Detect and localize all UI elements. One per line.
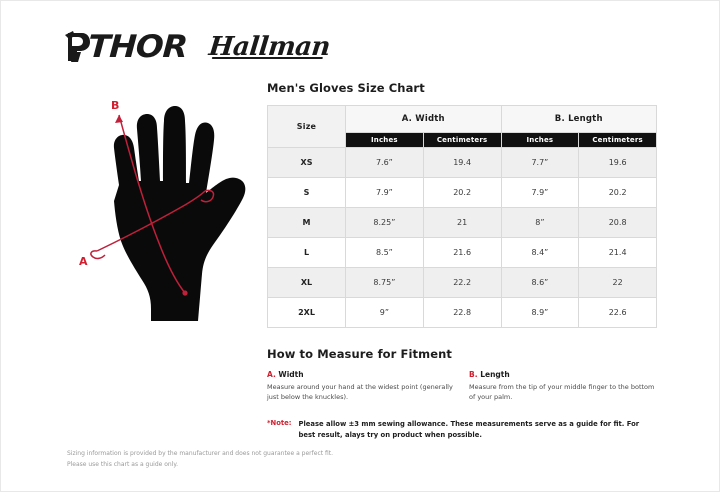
how-to-measure-length: B. Length Measure from the tip of your m… [469, 370, 657, 402]
diagram-label-a: A [79, 255, 88, 268]
table-row: XL 8.75” 22.2 8.6” 22 [268, 268, 657, 298]
cell-width-cm: 19.4 [423, 148, 501, 178]
chart-title: Men's Gloves Size Chart [267, 81, 657, 95]
hand-measurement-diagram: B A [67, 93, 267, 333]
table-row: L 8.5” 21.6 8.4” 21.4 [268, 238, 657, 268]
cell-length-in: 8.4” [501, 238, 579, 268]
length-description: Measure from the tip of your middle fing… [469, 382, 657, 402]
note-text: Please allow ±3 mm sewing allowance. The… [299, 419, 651, 441]
table-row: M 8.25” 21 8” 20.8 [268, 208, 657, 238]
cell-length-in: 8” [501, 208, 579, 238]
table-body: XS 7.6” 19.4 7.7” 19.6 S 7.9” 20.2 7.9” … [268, 148, 657, 328]
measure-endpoint-b-icon [182, 290, 187, 295]
cell-size: 2XL [268, 298, 346, 328]
cell-size: M [268, 208, 346, 238]
length-heading: Length [480, 370, 510, 379]
width-description: Measure around your hand at the widest p… [267, 382, 455, 402]
diagram-label-b: B [111, 99, 119, 112]
width-marker: A. [267, 370, 276, 379]
cell-width-in: 8.25” [346, 208, 424, 238]
table-header-row-groups: Size A. Width B. Length [268, 106, 657, 133]
cell-length-cm: 19.6 [579, 148, 657, 178]
cell-width-in: 8.75” [346, 268, 424, 298]
how-to-measure-section: How to Measure for Fitment A. Width Meas… [267, 347, 657, 402]
cell-length-in: 8.6” [501, 268, 579, 298]
cell-length-in: 8.9” [501, 298, 579, 328]
column-header-length-inches: Inches [501, 133, 579, 148]
table-row: 2XL 9” 22.8 8.9” 22.6 [268, 298, 657, 328]
footer-line-2: Please use this chart as a guide only. [67, 460, 333, 471]
size-chart-page: THOR Hallman B A Me [0, 0, 720, 492]
cell-size: XS [268, 148, 346, 178]
cell-length-cm: 21.4 [579, 238, 657, 268]
cell-length-cm: 22.6 [579, 298, 657, 328]
how-to-measure-width: A. Width Measure around your hand at the… [267, 370, 455, 402]
cell-size: S [268, 178, 346, 208]
thor-wordmark: THOR [87, 32, 188, 63]
measure-arrowhead-b-icon [115, 115, 123, 123]
width-heading: Width [278, 370, 303, 379]
table-row: XS 7.6” 19.4 7.7” 19.6 [268, 148, 657, 178]
hallman-wordmark: Hallman [208, 34, 332, 60]
column-header-width-centimeters: Centimeters [423, 133, 501, 148]
column-header-size: Size [268, 106, 346, 148]
table-header: Size A. Width B. Length Inches Centimete… [268, 106, 657, 148]
column-group-header-length: B. Length [501, 106, 657, 133]
cell-length-cm: 20.2 [579, 178, 657, 208]
column-header-width-inches: Inches [346, 133, 424, 148]
cell-length-cm: 22 [579, 268, 657, 298]
note-label: *Note: [267, 419, 292, 427]
footer-disclaimer: Sizing information is provided by the ma… [67, 449, 333, 470]
thor-logo: THOR [65, 31, 181, 63]
cell-width-cm: 22.2 [423, 268, 501, 298]
column-group-header-width: A. Width [346, 106, 502, 133]
cell-width-cm: 20.2 [423, 178, 501, 208]
cell-length-cm: 20.8 [579, 208, 657, 238]
cell-width-in: 9” [346, 298, 424, 328]
cell-width-in: 7.9” [346, 178, 424, 208]
chart-column: Men's Gloves Size Chart Size A. Width B.… [267, 81, 657, 441]
column-header-length-centimeters: Centimeters [579, 133, 657, 148]
size-chart-table: Size A. Width B. Length Inches Centimete… [267, 105, 657, 328]
cell-width-cm: 22.8 [423, 298, 501, 328]
cell-length-in: 7.7” [501, 148, 579, 178]
cell-length-in: 7.9” [501, 178, 579, 208]
hand-silhouette-icon [114, 106, 245, 321]
table-row: S 7.9” 20.2 7.9” 20.2 [268, 178, 657, 208]
cell-width-cm: 21 [423, 208, 501, 238]
note-section: *Note: Please allow ±3 mm sewing allowan… [267, 419, 657, 441]
cell-size: L [268, 238, 346, 268]
cell-size: XL [268, 268, 346, 298]
footer-line-1: Sizing information is provided by the ma… [67, 449, 333, 460]
brand-logo-bar: THOR Hallman [65, 31, 330, 63]
cell-width-in: 7.6” [346, 148, 424, 178]
cell-width-cm: 21.6 [423, 238, 501, 268]
cell-width-in: 8.5” [346, 238, 424, 268]
length-marker: B. [469, 370, 478, 379]
how-to-measure-title: How to Measure for Fitment [267, 347, 657, 361]
